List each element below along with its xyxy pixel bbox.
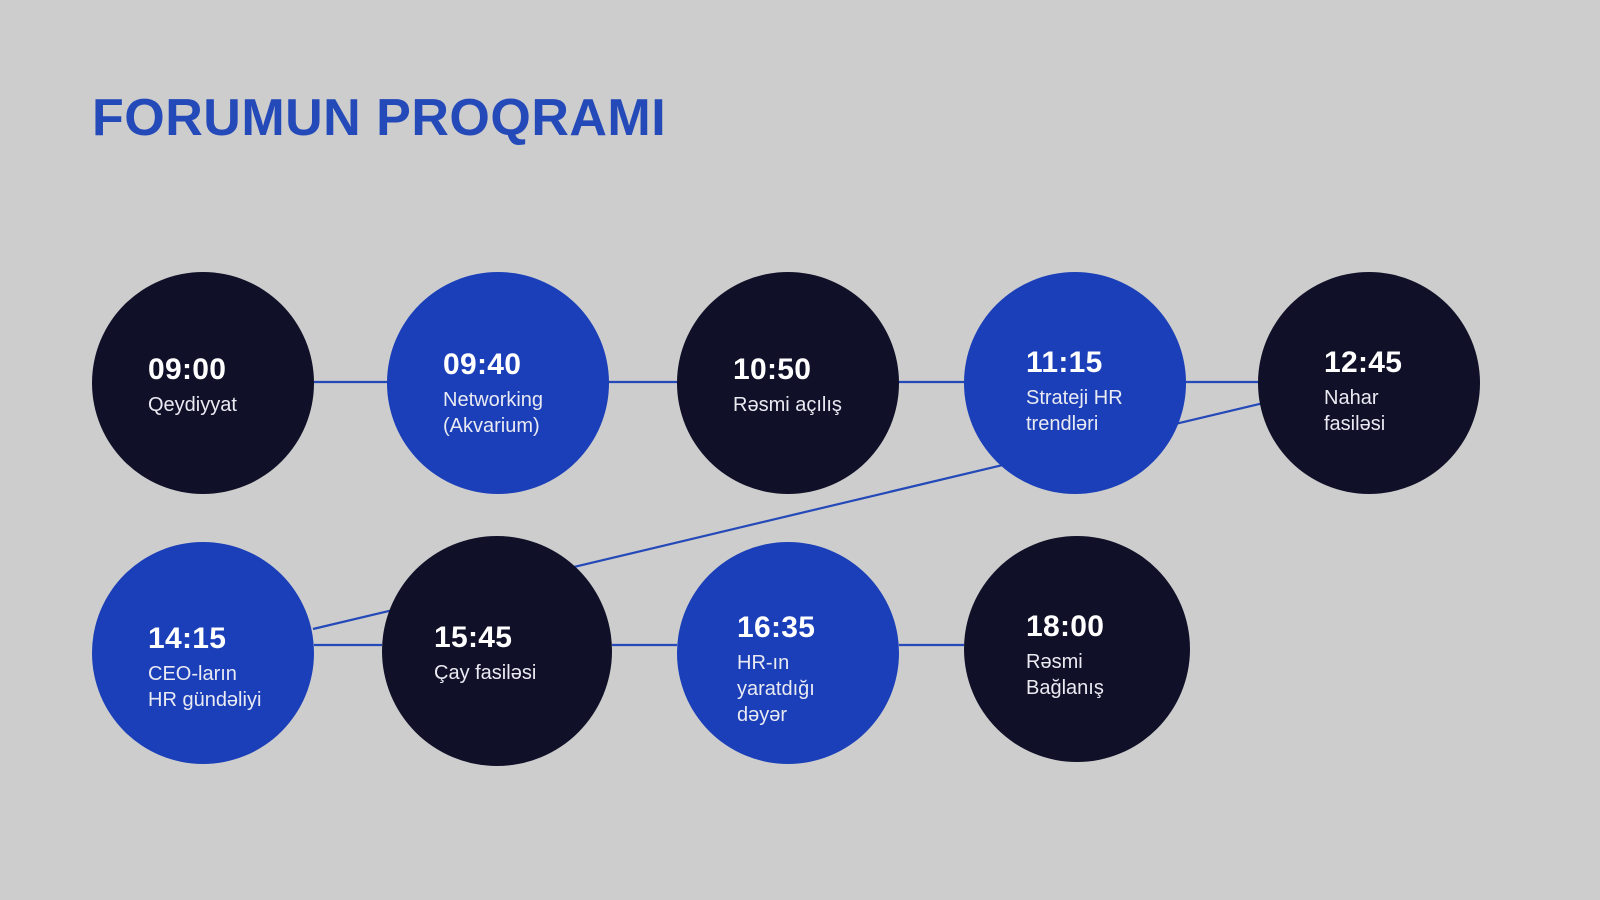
slide-canvas: FORUMUN PROQRAMI 09:00 Qeydiyyat 09:40 N…: [0, 0, 1600, 900]
schedule-node-0940[interactable]: 09:40 Networking (Akvarium): [387, 272, 609, 494]
node-time: 11:15: [1026, 345, 1168, 381]
node-label: Nahar fasiləsi: [1324, 385, 1462, 437]
node-label: Çay fasiləsi: [434, 660, 594, 686]
node-content: 16:35 HR-ın yaratdığı dəyər: [677, 610, 899, 728]
node-label: Rəsmi Bağlanış: [1026, 649, 1172, 701]
schedule-node-1800[interactable]: 18:00 Rəsmi Bağlanış: [964, 536, 1190, 762]
node-label: Strateji HR trendləri: [1026, 385, 1168, 437]
schedule-node-1245[interactable]: 12:45 Nahar fasiləsi: [1258, 272, 1480, 494]
node-time: 16:35: [737, 610, 881, 646]
node-time: 10:50: [733, 352, 881, 388]
schedule-node-1115[interactable]: 11:15 Strateji HR trendləri: [964, 272, 1186, 494]
node-content: 12:45 Nahar fasiləsi: [1258, 345, 1480, 437]
node-label: HR-ın yaratdığı dəyər: [737, 650, 881, 728]
schedule-node-1050[interactable]: 10:50 Rəsmi açılış: [677, 272, 899, 494]
node-content: 09:00 Qeydiyyat: [92, 352, 314, 418]
node-time: 15:45: [434, 620, 594, 656]
node-time: 14:15: [148, 621, 296, 657]
schedule-node-0900[interactable]: 09:00 Qeydiyyat: [92, 272, 314, 494]
node-label: Networking (Akvarium): [443, 387, 591, 439]
node-time: 09:40: [443, 347, 591, 383]
node-time: 09:00: [148, 352, 296, 388]
node-time: 18:00: [1026, 609, 1172, 645]
node-content: 15:45 Çay fasiləsi: [382, 620, 612, 686]
schedule-node-1635[interactable]: 16:35 HR-ın yaratdığı dəyər: [677, 542, 899, 764]
schedule-node-1415[interactable]: 14:15 CEO-ların HR gündəliyi: [92, 542, 314, 764]
node-label: Rəsmi açılış: [733, 392, 881, 418]
node-label: Qeydiyyat: [148, 392, 296, 418]
page-title: FORUMUN PROQRAMI: [92, 88, 666, 148]
node-content: 14:15 CEO-ların HR gündəliyi: [92, 621, 314, 713]
node-time: 12:45: [1324, 345, 1462, 381]
node-content: 09:40 Networking (Akvarium): [387, 347, 609, 439]
node-content: 11:15 Strateji HR trendləri: [964, 345, 1186, 437]
schedule-node-1545[interactable]: 15:45 Çay fasiləsi: [382, 536, 612, 766]
node-content: 10:50 Rəsmi açılış: [677, 352, 899, 418]
node-label: CEO-ların HR gündəliyi: [148, 661, 296, 713]
node-content: 18:00 Rəsmi Bağlanış: [964, 609, 1190, 701]
